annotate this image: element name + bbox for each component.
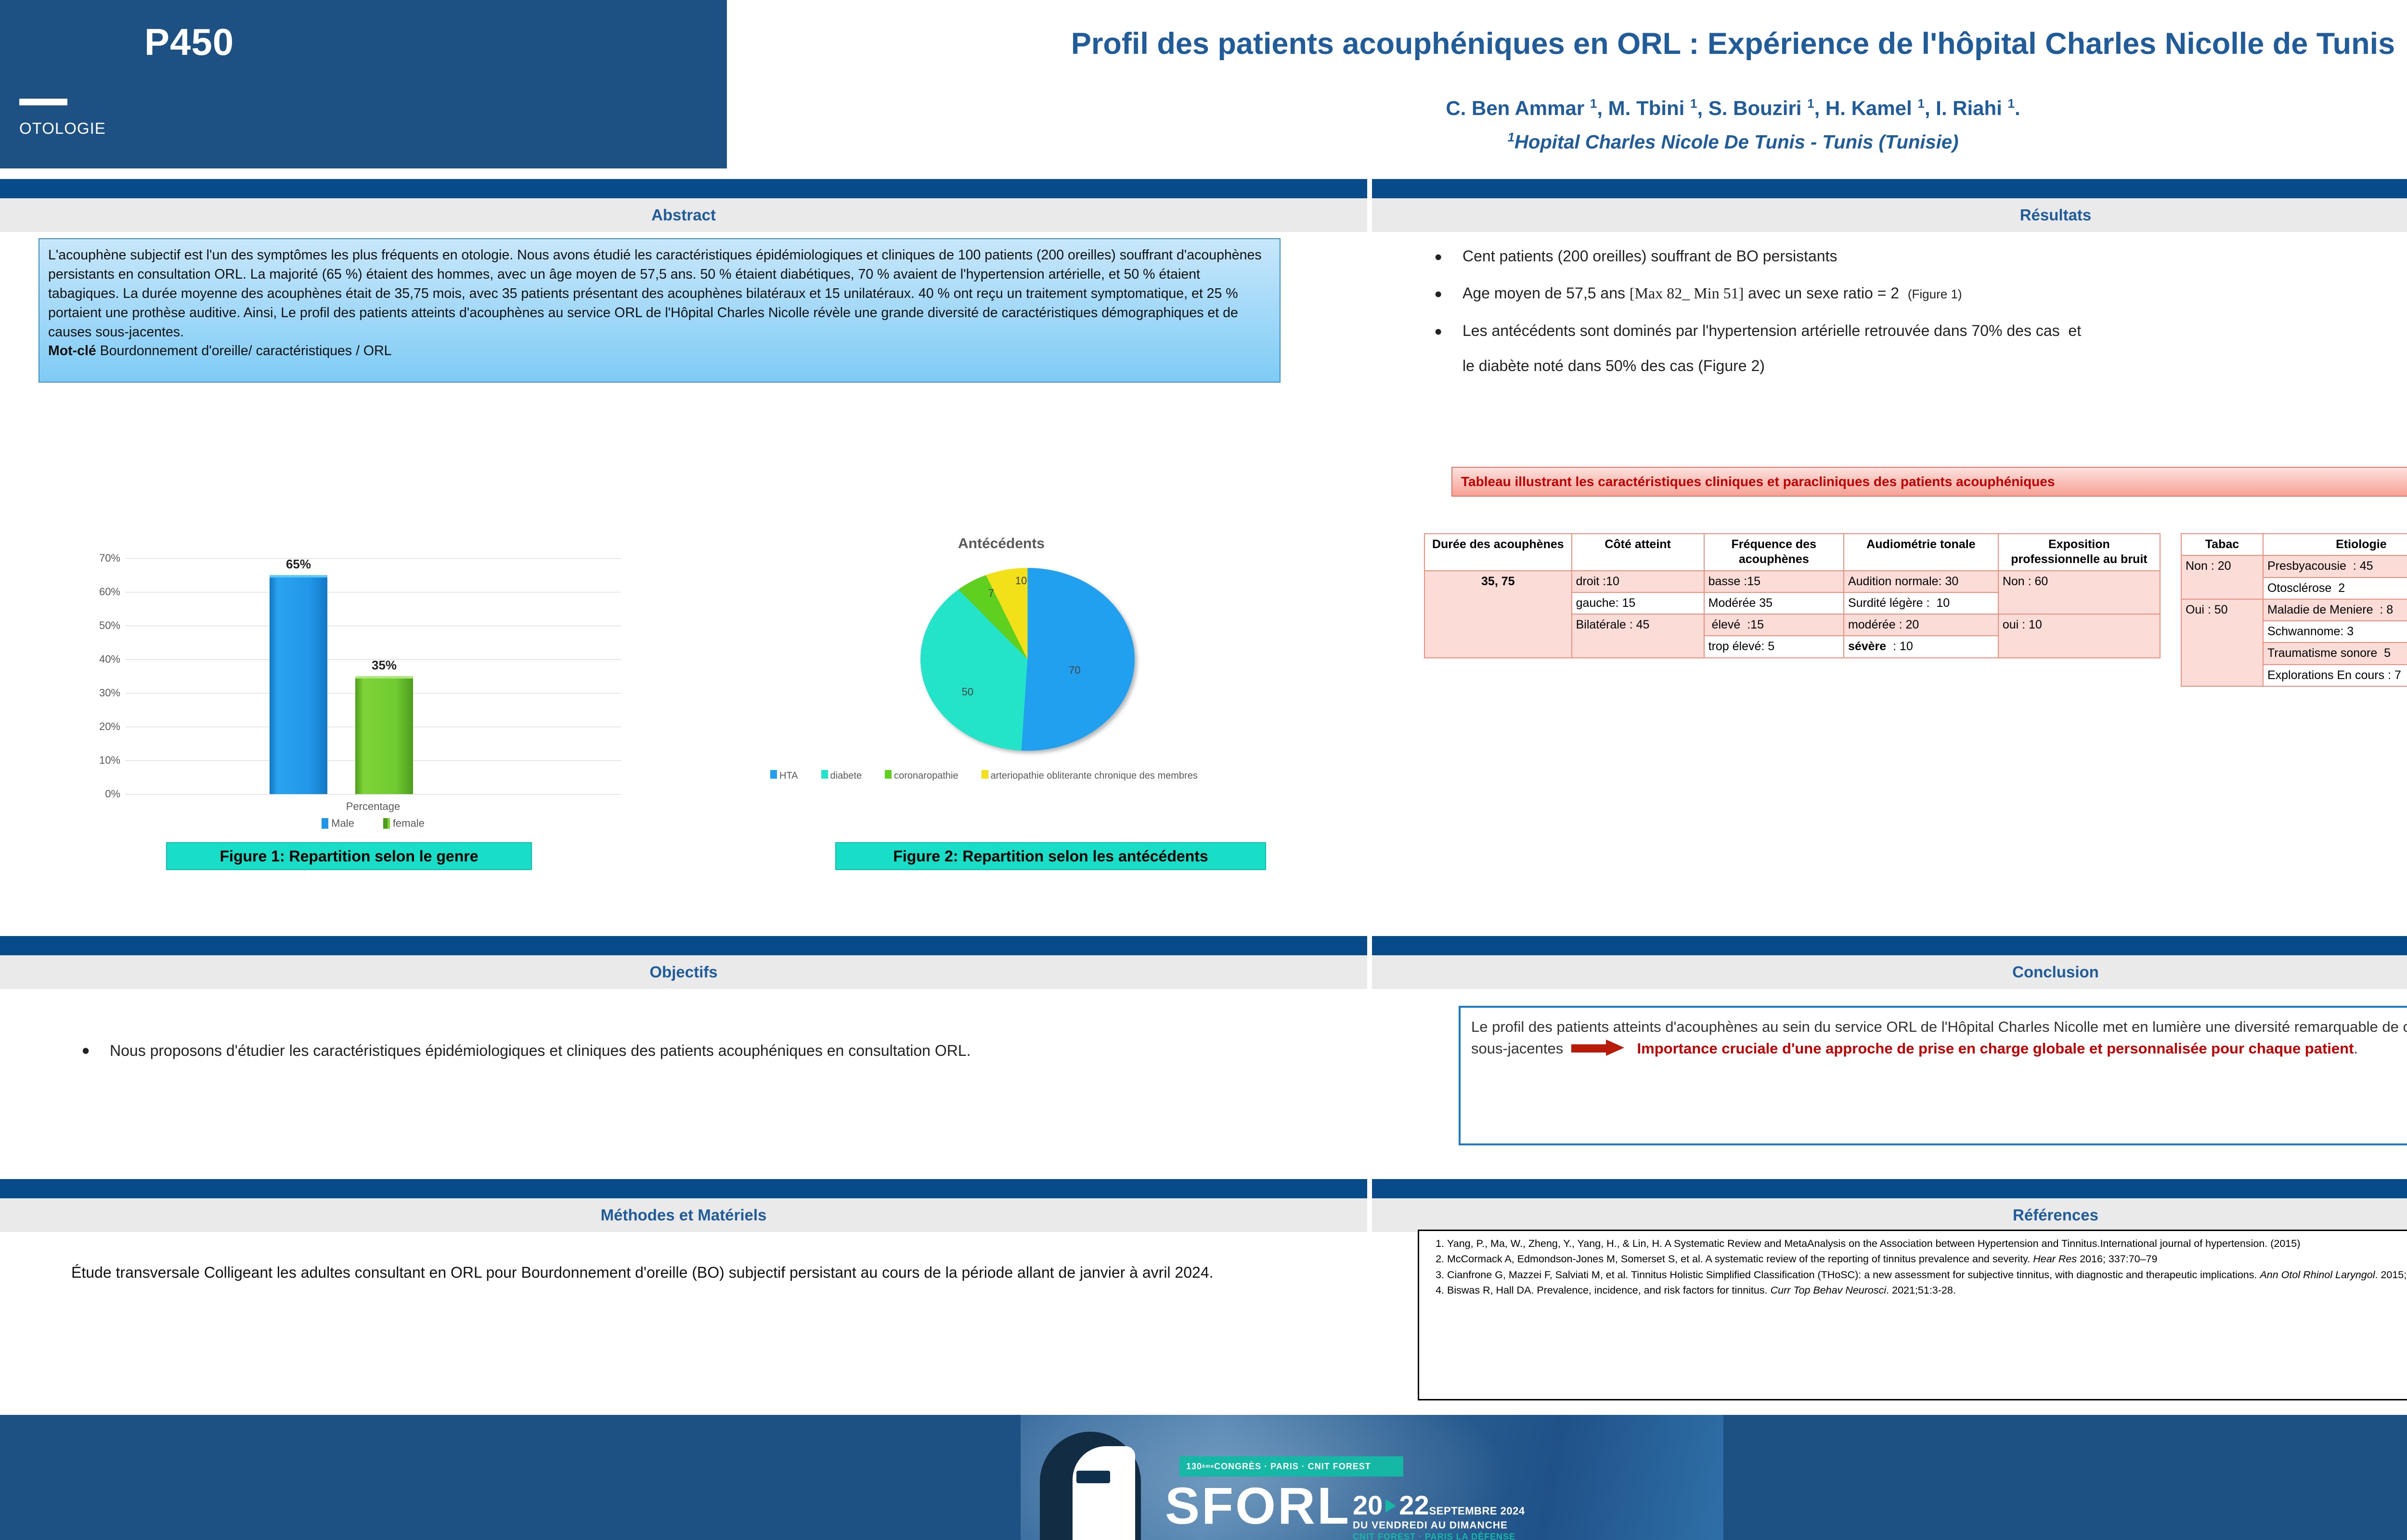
resultats-bullet-list: Cent patients (200 oreilles) souffrant d… <box>1425 245 2407 375</box>
table-header-row: Durée des acouphènes Côté atteint Fréque… <box>1424 534 2160 571</box>
legend-swatch-arteriopathie <box>982 770 988 779</box>
legend-item-diabete: diabete <box>821 770 862 782</box>
table-row: Oui : 50 Maladie de Meniere : 8 Ginkgo b… <box>2181 599 2407 621</box>
pie-figure: 70 50 7 10 <box>920 568 1135 751</box>
y-tick-70: 70% <box>99 552 120 565</box>
resultat-bullet-3: Les antécédents sont dominés par l'hyper… <box>1425 320 2407 342</box>
poster-category: OTOLOGIE <box>19 119 106 138</box>
y-tick-20: 20% <box>99 720 120 733</box>
sforl-congress-banner: 130ème CONGRÈS · PARIS · CNIT FOREST SFO… <box>1021 1415 1723 1540</box>
author-list: C. Ben Ammar 1, M. Tbini 1, S. Bouziri 1… <box>727 96 2407 120</box>
legend-swatch-coronaropathie <box>885 770 892 779</box>
th-etiologie: Etiologie <box>2263 534 2407 555</box>
cell-cote-bilaterale: Bilatérale : 45 <box>1572 614 1704 658</box>
th-exposition: Exposition professionnelle au bruit <box>1998 534 2160 571</box>
legend-swatch-hta <box>770 770 777 779</box>
congress-venue: CNIT FOREST · PARIS LA DÉFENSE <box>1353 1532 1515 1540</box>
bar-xaxis-label: Percentage <box>125 800 621 813</box>
bar-chart-legend: Male female <box>125 817 621 830</box>
objectifs-bullet: Nous proposons d'étudier les caractérist… <box>72 1039 1228 1062</box>
congress-days: DU VENDREDI AU DIMANCHE <box>1353 1520 1508 1531</box>
figure-2-pie-chart: Antécédents 70 50 7 10 HTA diabete coron… <box>732 532 1372 878</box>
clinical-table-right: Tabac Etiologie Traitement medical Proth… <box>2181 533 2407 687</box>
band-blue-methodes <box>0 1179 1367 1198</box>
reference-item: McCormack A, Edmondson-Jones M, Somerset… <box>1447 1252 2407 1266</box>
cell-freq-eleve: élevé :15 <box>1704 614 1844 636</box>
conclusion-box: Le profil des patients atteints d'acouph… <box>1459 1006 2407 1145</box>
y-tick-40: 40% <box>99 653 120 666</box>
cell-cote-gauche: gauche: 15 <box>1572 592 1704 614</box>
legend-item-female: female <box>383 817 425 830</box>
table-banner: Tableau illustrant les caractéristiques … <box>1451 467 2407 497</box>
pie-chart-legend: HTA diabete coronaropathie arteriopathie… <box>770 770 1372 782</box>
band-grey-references: Références <box>1372 1198 2407 1232</box>
resultat-bullet-3-cont: le diabète noté dans 50% des cas (Figure… <box>1425 357 2407 375</box>
section-title-objectifs: Objectifs <box>0 955 1367 989</box>
page-title: Profil des patients acouphéniques en ORL… <box>727 26 2407 61</box>
y-tick-0: 0% <box>105 788 120 800</box>
section-title-methodes: Méthodes et Matériels <box>0 1198 1367 1232</box>
legend-swatch-diabete <box>821 770 828 779</box>
abstract-keyword-label: Mot-clé <box>48 343 96 359</box>
conclusion-highlight: Importance cruciale d'une approche de pr… <box>1637 1040 2354 1057</box>
band-grey-objectifs: Objectifs <box>0 955 1367 989</box>
band-blue-objectifs <box>0 936 1367 955</box>
cell-freq-basse: basse :15 <box>1704 571 1844 592</box>
methodes-body: Étude transversale Colligeant les adulte… <box>71 1261 1304 1284</box>
references-box: Yang, P., Ma, W., Zheng, Y., Yang, H., &… <box>1418 1230 2407 1400</box>
poster-code: P450 <box>144 20 234 64</box>
pie-label-coronaropathie: 7 <box>988 587 994 600</box>
poster-root: P450 OTOLOGIE Profil des patients acouph… <box>0 0 2407 1540</box>
cell-etio-schwannome: Schwannome: 3 <box>2263 621 2407 642</box>
cell-audio-moderee: modérée : 20 <box>1844 614 1998 636</box>
band-grey-methodes: Méthodes et Matériels <box>0 1198 1367 1232</box>
title-area: Profil des patients acouphéniques en ORL… <box>727 0 2407 168</box>
y-tick-10: 10% <box>99 754 120 767</box>
pie-label-diabete: 50 <box>962 686 973 698</box>
bar-label-male: 65% <box>286 557 311 572</box>
conclusion-text-part3: . <box>2354 1040 2358 1057</box>
pie-chart-title: Antécédents <box>732 536 1271 552</box>
legend-label-female: female <box>393 817 425 830</box>
references-list: Yang, P., Ma, W., Zheng, Y., Yang, H., &… <box>1427 1237 2407 1297</box>
pie-label-hta: 70 <box>1069 664 1080 677</box>
reference-locator: 2016; 337:70–79 <box>2077 1253 2157 1265</box>
reference-text: McCormack A, Edmondson-Jones M, Somerset… <box>1447 1253 2033 1265</box>
section-title-resultats: Résultats <box>1372 198 2407 232</box>
cell-audio-normale: Audition normale: 30 <box>1844 571 1998 592</box>
arrow-right-icon <box>1571 1041 1629 1055</box>
th-cote: Côté atteint <box>1572 534 1704 571</box>
reference-text: Yang, P., Ma, W., Zheng, Y., Yang, H., &… <box>1447 1238 2300 1249</box>
table-header-row: Tabac Etiologie Traitement medical Proth… <box>2181 534 2407 555</box>
band-grey-conclusion: Conclusion <box>1372 955 2407 989</box>
reference-locator: . 2015;124(7):550-560 <box>2375 1269 2407 1281</box>
cell-tabac-oui: Oui : 50 <box>2181 599 2263 686</box>
affiliation: 1Hopital Charles Nicole De Tunis - Tunis… <box>727 130 2407 153</box>
congress-dates: 2022SEPTEMBRE 2024 <box>1353 1492 1525 1519</box>
legend-item-hta: HTA <box>770 770 798 782</box>
cell-etio-explorations: Explorations En cours : 7 <box>2263 665 2407 686</box>
cell-freq-trop-eleve: trop élevé: 5 <box>1704 636 1844 657</box>
pie-slices <box>920 568 1135 751</box>
figure-2-caption: Figure 2: Repartition selon les antécéde… <box>835 842 1266 870</box>
abstract-keyword-value: Bourdonnement d'oreille/ caractéristique… <box>96 343 392 359</box>
legend-swatch-female <box>383 818 390 829</box>
congress-line: 130ème CONGRÈS · PARIS · CNIT FOREST <box>1179 1456 1403 1476</box>
th-frequence: Fréquence des acouphènes <box>1704 534 1844 571</box>
legend-swatch-male <box>322 818 328 829</box>
reference-journal: Ann Otol Rhinol Laryngol <box>2260 1269 2375 1281</box>
cell-cote-droit: droit :10 <box>1572 571 1704 592</box>
section-title-references: Références <box>1372 1198 2407 1232</box>
cell-freq-moderee: Modérée 35 <box>1704 592 1844 614</box>
poster-header-block: P450 OTOLOGIE <box>0 0 727 168</box>
figure-1-bar-chart: 70% 60% 50% 40% 30% 20% 10% 0% 65% 35% P… <box>53 539 645 876</box>
band-blue-abstract <box>0 179 1367 198</box>
band-blue-conclusion <box>1372 936 2407 955</box>
bar-label-female: 35% <box>372 658 397 673</box>
bar-male: 65% <box>270 575 327 794</box>
clinical-table-left: Durée des acouphènes Côté atteint Fréque… <box>1424 533 2161 658</box>
profile-face-shape <box>1073 1446 1135 1540</box>
figure-1-caption: Figure 1: Repartition selon le genre <box>166 842 532 870</box>
resultat-bullet-1: Cent patients (200 oreilles) souffrant d… <box>1425 245 2407 267</box>
reference-item: Biswas R, Hall DA. Prevalence, incidence… <box>1447 1283 2407 1297</box>
cell-tabac-non: Non : 20 <box>2181 555 2263 599</box>
th-tabac: Tabac <box>2181 534 2263 555</box>
bar-plot-area: 70% 60% 50% 40% 30% 20% 10% 0% 65% 35% <box>125 558 621 794</box>
reference-item: Yang, P., Ma, W., Zheng, Y., Yang, H., &… <box>1447 1237 2407 1250</box>
cell-etio-meniere: Maladie de Meniere : 8 <box>2263 599 2407 621</box>
y-tick-60: 60% <box>99 586 120 598</box>
section-title-abstract: Abstract <box>0 198 1367 232</box>
th-audiometrie: Audiométrie tonale <box>1844 534 1998 571</box>
reference-journal: Curr Top Behav Neurosci <box>1771 1284 1887 1296</box>
band-blue-references <box>1372 1179 2407 1198</box>
cell-duree-value: 35, 75 <box>1424 571 1572 658</box>
bar-female: 35% <box>355 676 413 794</box>
reference-item: Cianfrone G, Mazzei F, Salviati M, et al… <box>1447 1268 2407 1282</box>
cell-etio-traumatisme: Traumatisme sonore 5 <box>2263 642 2407 664</box>
table-row: 35, 75 droit :10 basse :15 Audition norm… <box>1424 571 2160 592</box>
y-tick-50: 50% <box>99 619 120 632</box>
band-grey-abstract: Abstract <box>0 198 1367 232</box>
abstract-body: L'acouphène subjectif est l'un des sympt… <box>48 247 1262 340</box>
cell-audio-severe: sévère : 10 <box>1844 636 1998 657</box>
reference-text: Biswas R, Hall DA. Prevalence, incidence… <box>1447 1284 1771 1296</box>
cell-etio-presbyacousie: Presbyacousie : 45 <box>2263 555 2407 577</box>
legend-label-male: Male <box>331 817 354 830</box>
section-title-conclusion: Conclusion <box>1372 955 2407 989</box>
profile-eye-shape <box>1076 1471 1110 1483</box>
th-duree: Durée des acouphènes <box>1424 534 1572 571</box>
sforl-logo-text: SFORL <box>1165 1480 1351 1532</box>
cell-audio-surdite-legere: Surdité légère : 10 <box>1844 592 1998 614</box>
reference-text: Cianfrone G, Mazzei F, Salviati M, et al… <box>1447 1269 2260 1281</box>
header-rule <box>19 99 67 105</box>
resultat-bullet-2: Age moyen de 57,5 ans [Max 82_ Min 51] a… <box>1425 282 2407 304</box>
legend-item-arteriopathie: arteriopathie obliterante chronique des … <box>982 770 1198 782</box>
band-blue-resultats <box>1372 179 2407 198</box>
abstract-box: L'acouphène subjectif est l'un des sympt… <box>39 238 1281 383</box>
reference-locator: . 2021;51:3-28. <box>1886 1284 1956 1296</box>
cell-expo-oui: oui : 10 <box>1998 614 2160 658</box>
cell-etio-otosclerose: Otosclérose 2 <box>2263 577 2407 599</box>
pie-label-arteriopathie: 10 <box>1015 575 1027 587</box>
band-grey-resultats: Résultats <box>1372 198 2407 232</box>
cell-expo-non: Non : 60 <box>1998 571 2160 615</box>
legend-item-coronaropathie: coronaropathie <box>885 770 958 782</box>
table-row: Non : 20 Presbyacousie : 45 Vasodilateur… <box>2181 555 2407 577</box>
legend-item-male: Male <box>322 817 354 830</box>
reference-journal: Hear Res <box>2033 1253 2077 1265</box>
y-tick-30: 30% <box>99 687 120 699</box>
